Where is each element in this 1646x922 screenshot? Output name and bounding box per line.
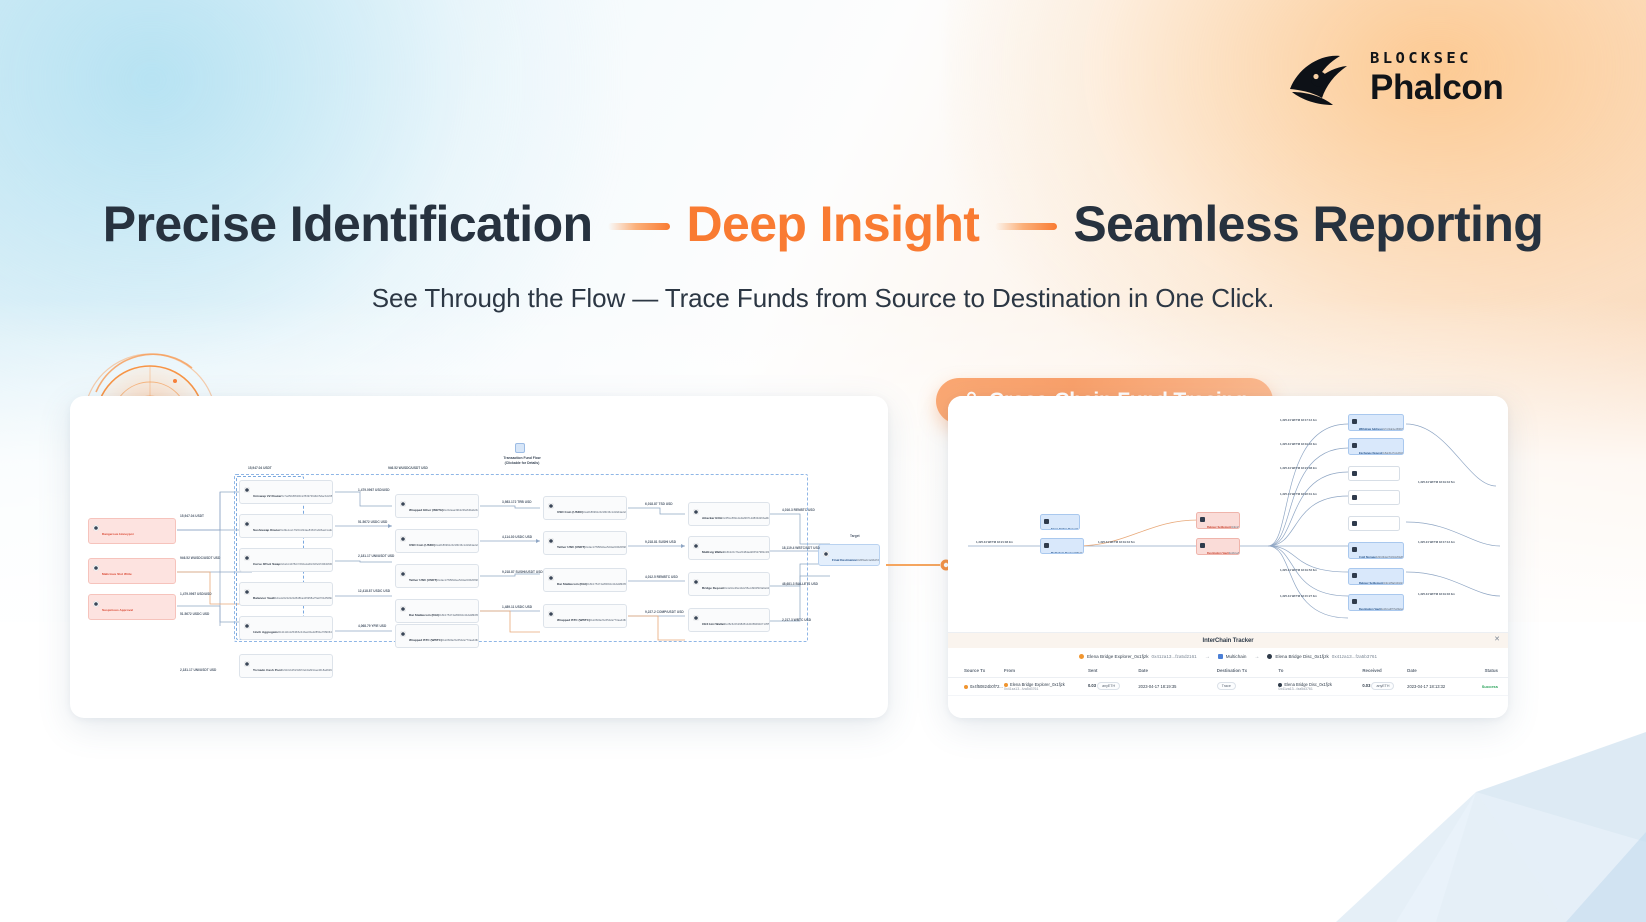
edge-label-4: 4,068.79 YFIE USD <box>358 624 386 628</box>
col-date-2: Date <box>1407 665 1469 677</box>
node-icon <box>1044 543 1049 548</box>
node-dot-icon <box>244 521 250 527</box>
page-title: Precise Identification Deep Insight Seam… <box>0 196 1646 254</box>
cc-node-dest-1[interactable]: Exchange Deposit0x5ab31d7c2e9914a08f2d6d… <box>1348 438 1404 455</box>
node-title: Uniswap V2 Router <box>253 494 282 498</box>
node-title: Curve 3Pool Swap <box>253 562 280 566</box>
cc-edge-label-5: 1,325.34 WFTM 18:19:52 6m <box>1280 568 1317 572</box>
group-label-2: 946.52 WUSDC/USDT USD <box>388 466 428 470</box>
cc-edge-label-8: 1,325.24 WFTM 18:17:12 4m <box>1418 540 1455 544</box>
node-icon <box>1352 547 1357 552</box>
edge-label-21: 2,181.17 UNI/USDT USD <box>180 668 216 672</box>
cell-source-tx[interactable]: 0x4f50824b0f72... <box>948 677 1004 695</box>
flow-node-c2-3[interactable]: Dai Stablecoin (DAI)0x6b175474e89094c44d… <box>395 599 479 623</box>
cc-edge-label-1: 1,325.24 WFTM 18:17:12 4m <box>1280 418 1317 422</box>
eye-mark-icon <box>1286 48 1356 108</box>
node-title: Withdraw Address <box>1359 428 1382 431</box>
cross-chain-graph[interactable]: Elena Bridge Deposit Address0x2a1fb05e8c… <box>948 396 1508 632</box>
headline-part-3: Seamless Reporting <box>1073 196 1543 254</box>
node-dot-icon <box>244 623 250 629</box>
transaction-flow-panel[interactable]: Transaction Fund Flow (Clickable for Det… <box>70 396 888 718</box>
arrow-icon: → <box>1205 654 1210 660</box>
headline-part-2: Deep Insight <box>686 196 979 254</box>
node-title: Dai Stablecoin (DAI) <box>557 582 587 586</box>
node-desc: 0x6b2c0c7be2048daa9b5527982c29f48062b34d… <box>724 551 770 554</box>
final-destination-node[interactable]: Final Destination0x8f3a2c1e9b47d55e12ca9… <box>818 544 880 566</box>
node-title: USD Coin (USDC) <box>409 543 435 547</box>
node-desc: 0xa0b86991c6218b36c1d19d4a2e9eb0ce3606eb… <box>435 544 479 547</box>
cc-edge-label-4: 1,325.14 WFTM 18:22:31 4m <box>1280 492 1317 496</box>
node-icon <box>1352 599 1357 604</box>
tracker-header: InterChain Tracker ✕ <box>948 633 1508 648</box>
edge-label-18: 946.52 WUSDC/USDT USD <box>180 556 220 560</box>
node-title: Tether USD (USDT) <box>409 578 437 582</box>
cc-edge-label-10: 1,325.34 WFTM 18:21:08 2m <box>976 540 1013 544</box>
fund-flow-graph[interactable]: Transaction Fund Flow (Clickable for Det… <box>70 396 888 718</box>
node-desc: 0x1111111254fb6c44bac0bed2854e76f9064309… <box>279 631 333 634</box>
sent-unit: anyETH <box>1097 682 1120 690</box>
node-desc: 0x7c22ab1e4f6093e8f8e2de0ba41cdf0 <box>1382 428 1404 431</box>
edge-label-1: 51.5672 USDC USD <box>358 520 387 524</box>
edge-label-5: 3,983.172 TRB USD <box>502 500 532 504</box>
flow-node-c3-0[interactable]: USD Coin (USDC)0xa0b86991c6218b36c1d19d4… <box>543 496 627 520</box>
node-dot-icon <box>244 589 250 595</box>
node-dot-icon <box>823 551 829 557</box>
flow-node-c4-3[interactable]: CEX Hot Wallet0x28c6c06298d514db08993407… <box>688 608 770 632</box>
node-title: CEX Hot Wallet <box>702 622 725 626</box>
node-title: Balancer Vault <box>253 596 275 600</box>
cell-sent: 0.03 anyETH <box>1088 677 1138 695</box>
chain-icon <box>1079 654 1084 659</box>
node-desc: 0xba12222222228d8ba445958a75a0704d566bf2… <box>275 597 333 600</box>
flow-node-c1-2[interactable]: Curve 3Pool Swap0xbebc44782c7db0a1a60cb6… <box>239 548 333 572</box>
col-sent: Sent <box>1088 665 1138 677</box>
cell-from[interactable]: Elena Bridge Explorer_0x1fjzk 0x41za13..… <box>1004 677 1088 695</box>
cc-node-dest-2[interactable]: Cold Storage <box>1348 466 1400 481</box>
node-title: Relayer Settlement <box>1207 526 1231 529</box>
edge-label-0: 1,479.0967 USD/USD <box>358 488 390 492</box>
alert-node-0[interactable]: Dangerous Honeypot 0xa4b2cee8e591f3f2c1a… <box>88 518 176 544</box>
brand-name-top: BLOCKSEC <box>1370 51 1503 67</box>
alert-title-1: Malicious Slot Write <box>102 572 132 576</box>
flow-node-c2-0[interactable]: Wrapped Ether (WETH)0xc02aaa39b223fe8d0a… <box>395 494 479 518</box>
node-desc: 0xa0b86991c6218b36c1d19d4a2e9eb0ce3606eb… <box>583 511 627 514</box>
graph-title: Transaction Fund Flow (Clickable for Det… <box>462 456 582 466</box>
cc-node-dest-0[interactable]: Withdraw Address0x7c22ab1e4f6093e8f8e2de… <box>1348 414 1404 431</box>
edge-label-17: 15,947.04 USDT <box>180 514 204 518</box>
chain-icon <box>1267 654 1272 659</box>
node-icon <box>1352 573 1357 578</box>
node-desc: 0x4e9ce36e442e55ecd9025b9a6e0d88485d628a… <box>724 587 770 590</box>
edge-label-10: 9,218.81 SUSHI USD <box>645 540 676 544</box>
edge-label-12: 9,227.2 COMP/USDT USD <box>645 610 684 614</box>
flow-node-c4-1[interactable]: Multisig Wallet0x6b2c0c7be2048daa9b55279… <box>688 536 770 560</box>
brand-name-bottom: Phalcon <box>1370 70 1503 105</box>
node-title: Elena Bridge Deposit Address <box>1051 528 1080 530</box>
table-row[interactable]: 0x4f50824b0f72... Elena Bridge Explorer_… <box>948 677 1508 695</box>
from-address: 0x41za13...fza5d3761 <box>1004 687 1088 691</box>
route-name-1: Multichain <box>1226 654 1247 659</box>
interchain-tracker[interactable]: InterChain Tracker ✕ Elena Bridge Explor… <box>948 632 1508 718</box>
interchain-tracker-panel[interactable]: Elena Bridge Deposit Address0x2a1fb05e8c… <box>948 396 1508 718</box>
tracker-title: InterChain Tracker <box>1203 638 1254 644</box>
cc-node-dest-5[interactable]: Cold Storage0xf2109dac7bbb9126fa6f0ee3d9… <box>1348 542 1404 559</box>
node-desc: 0xd9e1ce17f2641f24ae83637ab66a2cca9c378b… <box>280 529 333 532</box>
cell-date: 2023-04-17 18:19:35 <box>1138 677 1216 695</box>
node-desc: 0x3f5ce5fbfe3e9af3971dd833d26ba9b5c936f0… <box>722 517 770 520</box>
flow-node-c1-5[interactable]: Tornado Cash Pool0x910cbd523d972eb0a6f4c… <box>239 654 333 678</box>
cc-node-flagged-1[interactable]: Relayer Settlement0x9c4df9a61b0dd22e1eb3… <box>1196 512 1240 529</box>
edge-label-13: 4,016.3 RENBTC USD <box>782 508 815 512</box>
node-title: Wrapped BTC (WBTC) <box>409 638 442 642</box>
node-dot-icon <box>244 487 250 493</box>
node-title: Exchange Deposit <box>1359 452 1382 455</box>
cc-node-source[interactable]: Elena Bridge Deposit Address0x2a1fb05e8c… <box>1040 514 1080 530</box>
edge-label-15: 48,681.3 BALLETS USD <box>782 582 818 586</box>
node-title: Withdraw Address <box>1359 504 1382 505</box>
node-title: Wrapped BTC (WBTC) <box>557 618 590 622</box>
node-dot-icon <box>400 606 406 612</box>
node-icon <box>1044 519 1049 524</box>
flow-node-c1-3[interactable]: Balancer Vault0xba12222222228d8ba445958a… <box>239 582 333 606</box>
cc-node-dest-4[interactable]: Exchange Deposit <box>1348 516 1400 531</box>
node-desc: 0xdac17f958d2ee523a2206206994597c13d831e… <box>585 546 627 549</box>
route-step-2[interactable]: Elena Bridge Disc_0x1fjzk 0x41za13...fza… <box>1267 654 1377 659</box>
node-desc: 0x6b175474e89094c44da98b954eedeac495271d… <box>587 583 627 586</box>
node-desc: 0xc02aaa39b223fe8d0a0e5c4f27ead9083c756c… <box>443 509 479 512</box>
node-title: Cold Storage <box>1359 480 1376 481</box>
cc-edge-label-0: 1,325.34 WFTM 18:19:34 5m <box>1098 540 1135 544</box>
headline-part-1: Precise Identification <box>103 196 593 254</box>
cell-destination-tx[interactable]: Trace <box>1217 677 1279 695</box>
graph-title-icon <box>515 443 525 453</box>
bridge-icon <box>1218 654 1223 659</box>
node-title: Destination Vault <box>1359 608 1381 611</box>
alert-title-0: Dangerous Honeypot <box>102 532 134 536</box>
flow-node-c4-2[interactable]: Bridge Deposit0x4e9ce36e442e55ecd9025b9a… <box>688 572 770 596</box>
col-status: Status <box>1469 665 1508 677</box>
node-dot-icon <box>400 536 406 542</box>
route-name-2: Elena Bridge Disc_0x1fjzk <box>1275 654 1328 659</box>
node-icon <box>1352 521 1357 526</box>
cc-edge-label-3: 1,325.34 WFTM 18:21:08 2m <box>1280 466 1317 470</box>
edge-label-7: 9,218.87 SUSHI/USDT USD <box>502 570 543 574</box>
flow-node-c4-0[interactable]: Attacker EOA0x3f5ce5fbfe3e9af3971dd833d2… <box>688 502 770 526</box>
node-title: Wrapped Ether (WETH) <box>409 508 443 512</box>
node-dot-icon <box>693 615 699 621</box>
node-desc: 0xf2109dac7bbb9126fa6f0ee3d9ca75b <box>1376 556 1404 559</box>
node-title: Tornado Cash Pool <box>253 668 281 672</box>
node-desc: 0x8f3a2c1e9b47d55e12ca9b0fd37c2e0bb61c5a… <box>857 559 880 562</box>
node-dot-icon <box>548 575 554 581</box>
route-step-0[interactable]: Elena Bridge Explorer_0x1fjzk 0x41za13..… <box>1079 654 1197 659</box>
cell-received: 0.03 anyETH <box>1362 677 1407 695</box>
cc-node-dest-7[interactable]: Destination Vault0xd3c1a9f77fe8b2aa9431b… <box>1348 594 1404 611</box>
edge-label-6: 4,114.30 USDC USD <box>502 535 532 539</box>
node-desc: 0xd3c1a9f77fe8b2aa9431bbdf3e90c21 <box>1229 552 1240 555</box>
node-title: Relayer Settlement <box>1359 582 1383 585</box>
alert-title-2: Suspicious Approval <box>102 608 133 612</box>
edge-label-19: 1,479.0967 USD/USD <box>180 592 212 596</box>
node-dot-icon <box>400 501 406 507</box>
node-title: Attacker EOA <box>702 516 722 520</box>
col-destination-tx: Destination Tx <box>1217 665 1279 677</box>
alert-node-1[interactable]: Malicious Slot Write 0x5fae73ef33f4c77c5… <box>88 558 176 584</box>
flow-node-c3-1[interactable]: Tether USD (USDT)0xdac17f958d2ee523a2206… <box>543 531 627 555</box>
edge-label-9: 6,018.87 TSD USD <box>645 502 673 506</box>
chain-icon <box>964 685 968 689</box>
edge-label-3: 12,418.87 USDC USD <box>358 589 390 593</box>
flow-node-c1-0[interactable]: Uniswap V2 Router0x7a250d5630b4cf539739d… <box>239 480 333 504</box>
node-icon <box>1200 517 1205 522</box>
node-icon <box>1352 443 1357 448</box>
cc-node-flagged-2[interactable]: Destination Vault0xd3c1a9f77fe8b2aa9431b… <box>1196 538 1240 555</box>
node-dot-icon <box>693 543 699 549</box>
node-dot-icon <box>548 611 554 617</box>
node-dot-icon <box>400 571 406 577</box>
flow-node-c2-2[interactable]: Tether USD (USDT)0xdac17f958d2ee523a2206… <box>395 564 479 588</box>
cc-edge-label-6: 1,325.34 WFTM 18:15:27 3m <box>1280 594 1317 598</box>
edge-label-11: 4,012.5 RENBTC USD <box>645 575 678 579</box>
node-dot-icon <box>400 631 406 637</box>
headline-separator-2-icon <box>995 223 1057 230</box>
node-icon <box>1352 419 1357 424</box>
node-title: Final Destination <box>832 558 857 562</box>
alert-dot-icon <box>93 601 99 607</box>
page-subtitle: See Through the Flow — Trace Funds from … <box>0 283 1646 314</box>
node-title: Sushiswap Router <box>253 528 280 532</box>
cc-node-source-2[interactable]: Multichain Router V70x6b7a87899490ede35b… <box>1040 538 1084 554</box>
node-desc: 0xdac17f958d2ee523a2206206994597c13d831e… <box>437 579 479 582</box>
brand-logo[interactable]: BLOCKSEC Phalcon <box>1286 48 1503 108</box>
cc-edge-label-9: 1,325.34 WFTM 18:19:02 3m <box>1418 592 1455 596</box>
node-desc: 0x9c4df9a61b0dd22e1eb3a9a44c7fb1e <box>1383 582 1404 585</box>
node-desc: 0x9c4df9a61b0dd22e1eb3a9a44c7fb1e <box>1231 526 1240 529</box>
node-title: Multisig Wallet <box>702 550 724 554</box>
alert-dot-icon <box>93 525 99 531</box>
node-desc: 0x7a250d5630b4cf539739df2c5dacb4c659f248… <box>282 495 333 498</box>
cell-to[interactable]: Elena Bridge Disc_0x1fjzk 0x41za13...fza… <box>1278 677 1362 695</box>
flow-node-c3-2[interactable]: Dai Stablecoin (DAI)0x6b175474e89094c44d… <box>543 568 627 592</box>
route-addr-2: 0x41za13...fza5b3761 <box>1332 654 1377 659</box>
group-label-1: 15,947.04 USDT <box>248 466 272 470</box>
flow-node-c3-3[interactable]: Wrapped BTC (WBTC)0x2260fac5e5542a773aa4… <box>543 604 627 628</box>
col-to: To <box>1278 665 1362 677</box>
received-unit: anyETH <box>1371 682 1394 690</box>
cc-node-dest-3[interactable]: Withdraw Address <box>1348 490 1400 505</box>
node-desc: 0x2260fac5e5542a773aa44fbcfedf7c193bc2c5… <box>590 619 627 622</box>
arrow-icon: → <box>1254 654 1259 660</box>
node-dot-icon <box>693 579 699 585</box>
node-title: Destination Vault <box>1207 552 1229 555</box>
flow-node-c2-4[interactable]: Wrapped BTC (WBTC)0x2260fac5e5542a773aa4… <box>395 624 479 648</box>
col-from: From <box>1004 665 1088 677</box>
tracker-route: Elena Bridge Explorer_0x1fjzk 0x41za13..… <box>948 648 1508 665</box>
route-name-0: Elena Bridge Explorer_0x1fjzk <box>1087 654 1149 659</box>
node-title: Dai Stablecoin (DAI) <box>409 613 439 617</box>
node-dot-icon <box>548 538 554 544</box>
trace-button[interactable]: Trace <box>1217 682 1236 690</box>
cc-edge-label-7: 1,325.34 WFTM 18:19:34 5m <box>1418 480 1455 484</box>
node-desc: 0x6b175474e89094c44da98b954eedeac495271d… <box>439 614 479 617</box>
cell-date-2: 2023-04-17 18:13:32 <box>1407 677 1469 695</box>
route-step-1[interactable]: Multichain <box>1218 654 1247 659</box>
table-header-row: Source Tx From Sent Date Destination Tx … <box>948 665 1508 677</box>
flow-node-c2-1[interactable]: USD Coin (USDC)0xa0b86991c6218b36c1d19d4… <box>395 529 479 553</box>
node-desc: 0x2260fac5e5542a773aa44fbcfedf7c193bc2c5… <box>442 639 479 642</box>
node-title: 1inch Aggregator <box>253 630 279 634</box>
node-dot-icon <box>693 509 699 515</box>
route-addr-0: 0x41za13...fza5d2161 <box>1152 654 1197 659</box>
cc-node-dest-6[interactable]: Relayer Settlement0x9c4df9a61b0dd22e1eb3… <box>1348 568 1404 585</box>
edge-label-8: 1,489.11 USDC USD <box>502 605 532 609</box>
col-received: Received <box>1362 665 1407 677</box>
node-icon <box>1200 543 1205 548</box>
node-title: Tether USD (USDT) <box>557 545 585 549</box>
node-dot-icon <box>244 661 250 667</box>
edge-label-2: 2,181.17 UNI/USDT USD <box>358 554 394 558</box>
node-icon <box>1352 495 1357 500</box>
col-date: Date <box>1138 665 1216 677</box>
node-desc: 0xd3c1a9f77fe8b2aa9431bbdf3e90c21 <box>1381 608 1404 611</box>
to-address: 0x41za13...fza5d3761 <box>1278 687 1362 691</box>
node-title: Exchange Deposit <box>1359 530 1382 531</box>
node-dot-icon <box>548 503 554 509</box>
node-desc: 0xbebc44782c7db0a1a60cb6fe97d0b483032ff1… <box>280 563 333 566</box>
alert-node-2[interactable]: Suspicious Approval 0xe7f2cfb3f71ca12ea5… <box>88 594 176 620</box>
node-desc: 0x28c6c06298d514db089934071355e5743bf21d… <box>725 623 770 626</box>
node-title: USD Coin (USDC) <box>557 510 583 514</box>
node-desc: 0x910cbd523d972eb0a6f4cae4618ad62622b39d… <box>281 669 333 672</box>
panel-connector <box>884 548 954 582</box>
node-title: Multichain Router V7 <box>1051 552 1078 554</box>
tracker-table: Source Tx From Sent Date Destination Tx … <box>948 665 1508 696</box>
alert-dot-icon <box>93 565 99 571</box>
node-icon <box>1352 471 1357 476</box>
edge-label-16: 2,217.3 WBTC USD <box>782 618 811 622</box>
node-title: Bridge Deposit <box>702 586 724 590</box>
final-target-label: Target <box>850 534 860 538</box>
cc-edge-label-2: 1,325.34 WFTM 18:19:02 3m <box>1280 442 1317 446</box>
flow-node-c1-4[interactable]: 1inch Aggregator0x1111111254fb6c44bac0be… <box>239 616 333 640</box>
node-title: Cold Storage <box>1359 556 1376 559</box>
node-dot-icon <box>244 555 250 561</box>
edge-label-20: 51.5672 USDC USD <box>180 612 209 616</box>
flow-node-c1-1[interactable]: Sushiswap Router0xd9e1ce17f2641f24ae8363… <box>239 514 333 538</box>
close-icon[interactable]: ✕ <box>1494 636 1500 643</box>
edge-label-14: 18,119.4 WBTC/SDT USD <box>782 546 820 550</box>
status-badge: Success <box>1469 677 1508 695</box>
node-desc: 0x5ab31d7c2e9914a08f2d6dbbcd5e7a2 <box>1382 452 1404 455</box>
headline-separator-1-icon <box>608 223 670 230</box>
col-source-tx: Source Tx <box>948 665 1004 677</box>
